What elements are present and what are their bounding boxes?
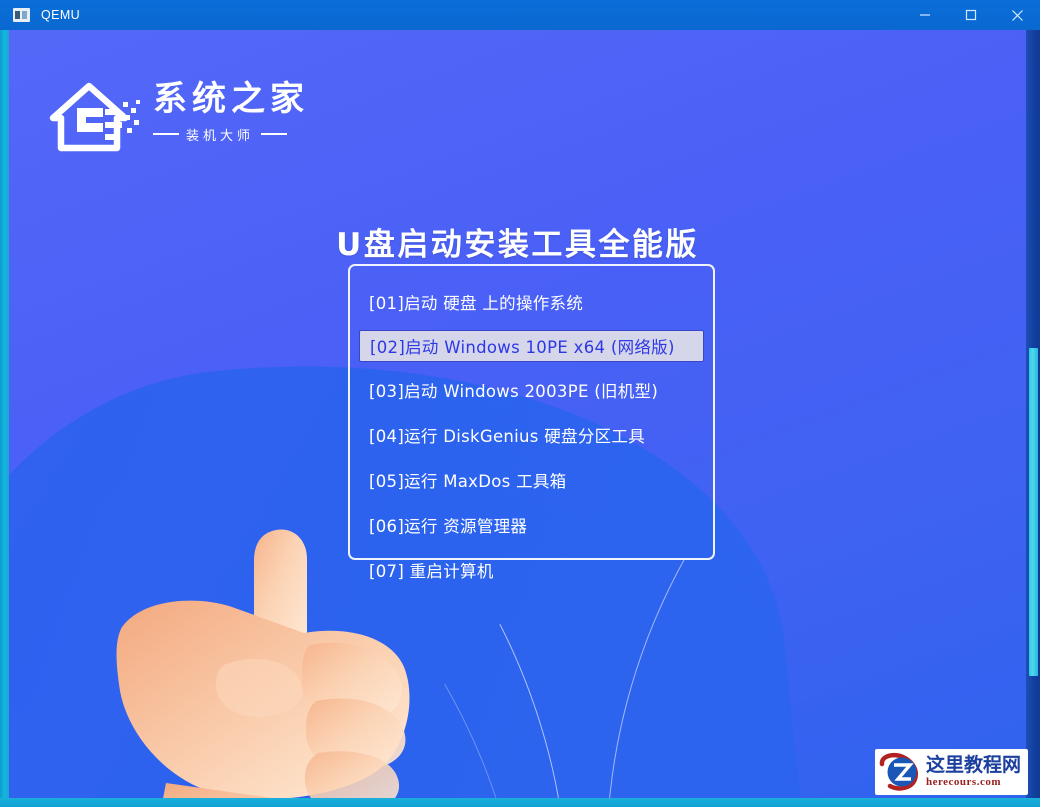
brand-logo-text: 系统之家 装机大师 [153,82,309,144]
watermark-text: 这里教程网 herecours.com [926,756,1021,789]
horizontal-scrollbar[interactable] [0,798,1040,807]
brand-logo: 系统之家 装机大师 [49,78,309,156]
brand-name: 系统之家 [153,82,309,118]
boot-menu-item-05[interactable]: [05]运行 MaxDos 工具箱 [359,463,704,497]
qemu-window: QEMU [0,0,1040,807]
brand-tagline: 装机大师 [186,125,254,144]
watermark: 这里教程网 herecours.com [875,749,1028,795]
close-button[interactable] [994,0,1040,30]
tagline-rule-right [261,133,287,135]
guest-screen: 系统之家 装机大师 U盘启动安装工具全能版 [01]启动 硬盘 上的操作系统 [… [9,30,1026,798]
vertical-scrollbar-thumb[interactable] [1029,348,1038,676]
boot-menu-item-04[interactable]: [04]运行 DiskGenius 硬盘分区工具 [359,418,704,452]
page-title: U盘启动安装工具全能版 [9,219,1026,264]
window-controls [902,0,1040,30]
maximize-button[interactable] [948,0,994,30]
tagline-rule-left [153,133,179,135]
window-titlebar[interactable]: QEMU [0,0,1040,30]
boot-menu-item-01[interactable]: [01]启动 硬盘 上的操作系统 [359,285,704,319]
pointing-hand-illustration [104,515,534,798]
vertical-scrollbar[interactable] [1026,30,1040,807]
boot-menu-item-02[interactable]: [02]启动 Windows 10PE x64 (网络版) [359,330,704,362]
window-title: QEMU [41,8,80,22]
window-frame-left [0,30,9,807]
minimize-button[interactable] [902,0,948,30]
brand-tagline-row: 装机大师 [153,125,309,144]
boot-menu-item-03[interactable]: [03]启动 Windows 2003PE (旧机型) [359,373,704,407]
z-swoosh-logo-icon [879,752,923,792]
watermark-site-name: 这里教程网 [926,756,1021,776]
house-logo-icon [49,78,147,156]
qemu-monitor-icon [13,8,30,22]
watermark-site-url: herecours.com [926,776,1021,788]
